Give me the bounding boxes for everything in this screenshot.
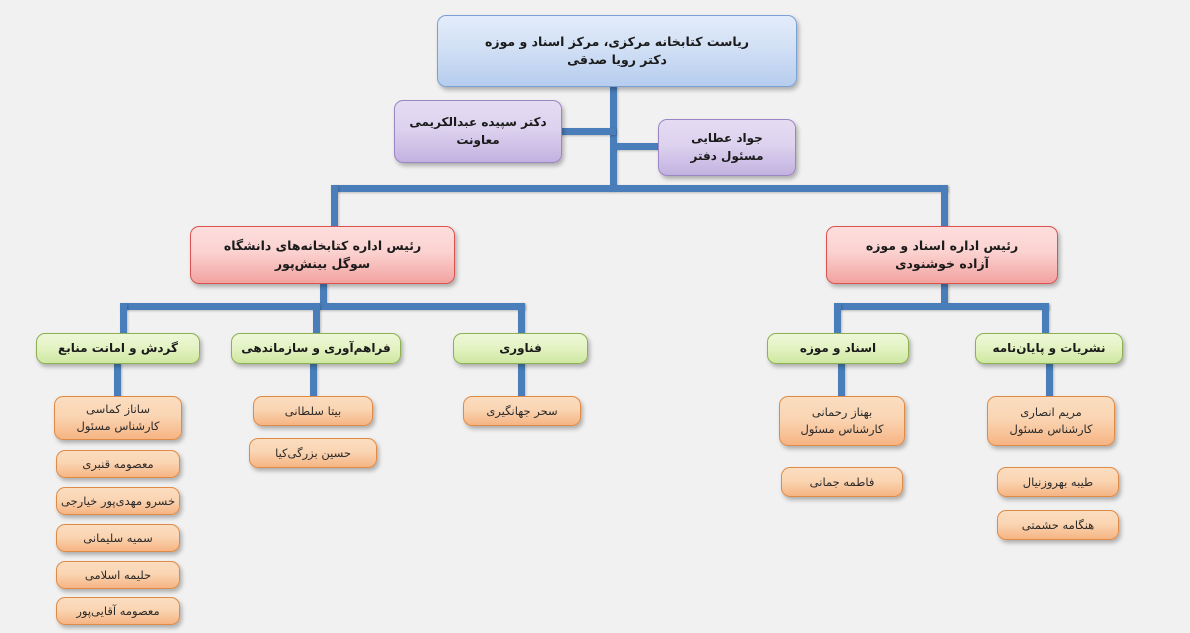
- staff-name: هنگامه حشمتی: [1022, 517, 1094, 534]
- staff-name: حلیمه اسلامی: [85, 567, 151, 584]
- staff-role: کارشناس مسئول: [76, 418, 159, 435]
- staff-name: معصومه آقایی‌پور: [76, 603, 159, 620]
- staff-name: خسرو مهدی‌پور خیارجی: [61, 493, 175, 510]
- node-unit-acquisition-label: فراهم‌آوری و سازماندهی: [241, 340, 391, 357]
- node-staff-acquisition-0[interactable]: بیتا سلطانی: [253, 396, 373, 426]
- node-head-libraries[interactable]: رئیس اداره کتابخانه‌های دانشگاه سوگل بین…: [190, 226, 455, 284]
- staff-name: حسین بزرگی‌کیا: [275, 445, 351, 462]
- staff-name: فاطمه جمانی: [810, 474, 875, 491]
- node-staff-acquisition-1[interactable]: حسین بزرگی‌کیا: [249, 438, 377, 468]
- connector-drop-archives: [941, 185, 948, 226]
- staff-role: کارشناس مسئول: [800, 421, 883, 438]
- node-deputy-role: معاونت: [456, 132, 499, 149]
- node-head-libraries-person: سوگل بینش‌پور: [275, 255, 370, 273]
- connector-drop-libraries: [331, 185, 338, 226]
- staff-name: بیتا سلطانی: [285, 403, 341, 420]
- node-root[interactable]: ریاست کتابخانه مرکزی، مرکز اسناد و موزه …: [437, 15, 797, 87]
- node-unit-technology-label: فناوری: [499, 340, 542, 357]
- staff-name: معصومه قنبری: [82, 456, 153, 473]
- node-deputy-person: دکتر سپیده عبدالکریمی: [409, 114, 546, 131]
- node-head-archives-person: آزاده خوشنودی: [895, 255, 989, 273]
- node-staff-circulation-1[interactable]: معصومه قنبری: [56, 450, 180, 478]
- node-unit-documents-museum[interactable]: اسناد و موزه: [767, 333, 909, 364]
- connector-deputy: [560, 128, 616, 135]
- connector-libraries-bus: [120, 303, 525, 310]
- staff-role: کارشناس مسئول: [1009, 421, 1092, 438]
- node-unit-publications[interactable]: نشریات و پایان‌نامه: [975, 333, 1123, 364]
- connector-acquisition-staff: [310, 363, 317, 396]
- node-head-archives[interactable]: رئیس اداره اسناد و موزه آزاده خوشنودی: [826, 226, 1058, 284]
- staff-name: مریم انصاری: [1020, 404, 1081, 421]
- connector-publications-staff: [1046, 363, 1053, 396]
- node-unit-circulation-label: گردش و امانت منابع: [58, 340, 178, 357]
- connector-root-stem: [610, 86, 617, 190]
- node-staff-documents-1[interactable]: فاطمه جمانی: [781, 467, 903, 497]
- node-staff-circulation-0[interactable]: ساناز کماسی کارشناس مسئول: [54, 396, 182, 440]
- node-unit-technology[interactable]: فناوری: [453, 333, 588, 364]
- connector-drop-circulation: [120, 303, 127, 333]
- connector-drop-publications: [1042, 303, 1049, 333]
- connector-documents-staff: [838, 363, 845, 396]
- node-staff-technology-0[interactable]: سحر جهانگیری: [463, 396, 581, 426]
- node-root-person: دکتر رویا صدقی: [567, 51, 667, 69]
- node-unit-publications-label: نشریات و پایان‌نامه: [992, 340, 1105, 357]
- node-head-archives-title: رئیس اداره اسناد و موزه: [866, 237, 1018, 255]
- node-staff-circulation-4[interactable]: حلیمه اسلامی: [56, 561, 180, 589]
- staff-name: ساناز کماسی: [86, 401, 150, 418]
- connector-circulation-staff: [114, 363, 121, 396]
- connector-drop-technology: [518, 303, 525, 333]
- staff-name: طیبه بهروزنیال: [1023, 474, 1093, 491]
- node-staff-publications-2[interactable]: هنگامه حشمتی: [997, 510, 1119, 540]
- staff-name: بهناز رحمانی: [812, 404, 872, 421]
- node-head-libraries-title: رئیس اداره کتابخانه‌های دانشگاه: [224, 237, 421, 255]
- node-office-manager-person: جواد عطایی: [691, 130, 763, 147]
- staff-name: سمیه سلیمانی: [83, 530, 152, 547]
- node-staff-circulation-5[interactable]: معصومه آقایی‌پور: [56, 597, 180, 625]
- node-staff-documents-0[interactable]: بهناز رحمانی کارشناس مسئول: [779, 396, 905, 446]
- node-office-manager-role: مسئول دفتر: [690, 148, 763, 165]
- connector-technology-staff: [518, 363, 525, 396]
- node-staff-publications-1[interactable]: طیبه بهروزنیال: [997, 467, 1119, 497]
- node-staff-circulation-3[interactable]: سمیه سلیمانی: [56, 524, 180, 552]
- node-office-manager[interactable]: جواد عطایی مسئول دفتر: [658, 119, 796, 176]
- node-unit-circulation[interactable]: گردش و امانت منابع: [36, 333, 200, 364]
- node-deputy[interactable]: دکتر سپیده عبدالکریمی معاونت: [394, 100, 562, 163]
- node-unit-documents-museum-label: اسناد و موزه: [800, 340, 876, 357]
- connector-level3-bus: [331, 185, 948, 192]
- connector-archives-bus: [834, 303, 1049, 310]
- connector-drop-acquisition: [313, 303, 320, 333]
- connector-drop-documents-museum: [834, 303, 841, 333]
- node-root-title: ریاست کتابخانه مرکزی، مرکز اسناد و موزه: [485, 33, 749, 51]
- node-staff-circulation-2[interactable]: خسرو مهدی‌پور خیارجی: [56, 487, 180, 515]
- node-unit-acquisition[interactable]: فراهم‌آوری و سازماندهی: [231, 333, 401, 364]
- org-chart-canvas: ریاست کتابخانه مرکزی، مرکز اسناد و موزه …: [0, 0, 1190, 633]
- staff-name: سحر جهانگیری: [486, 403, 557, 420]
- node-staff-publications-0[interactable]: مریم انصاری کارشناس مسئول: [987, 396, 1115, 446]
- connector-office-manager: [615, 143, 660, 150]
